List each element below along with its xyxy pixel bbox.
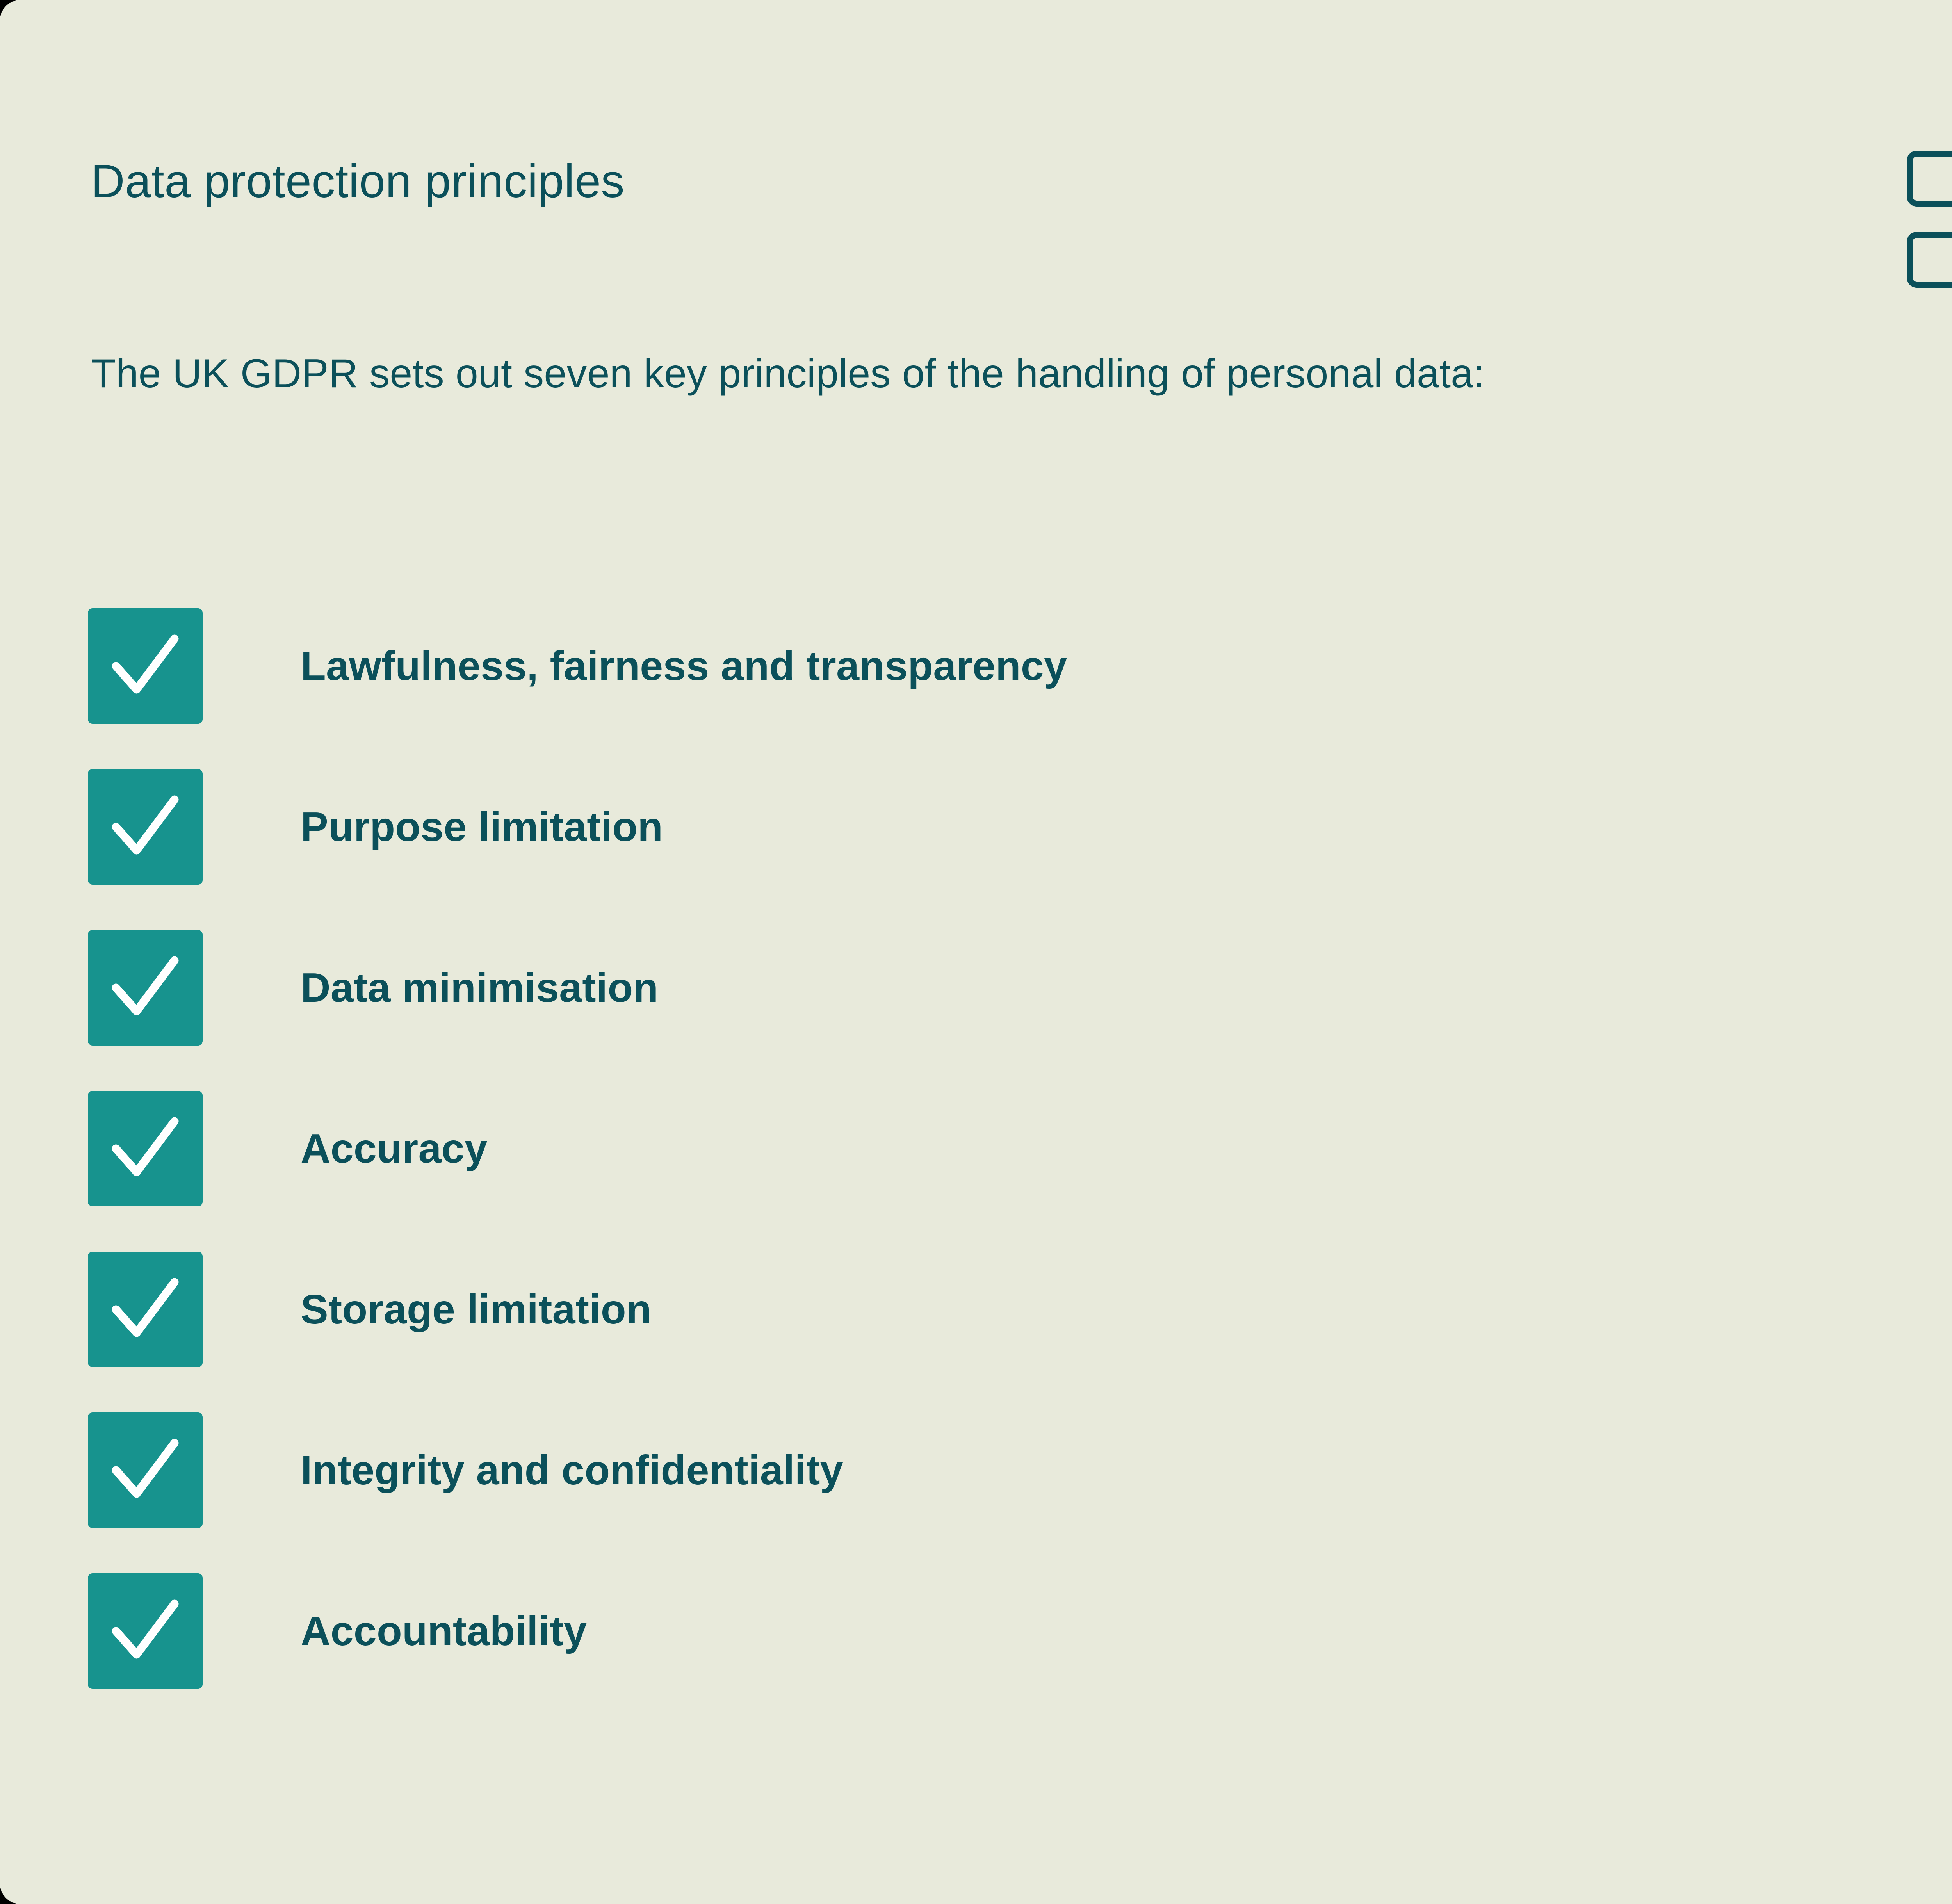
checklist-item[interactable]: Purpose limitation	[0, 769, 1952, 885]
checkbox-checked[interactable]	[88, 1252, 203, 1367]
checklist-item[interactable]: Integrity and confidentiality	[0, 1412, 1952, 1528]
checklist-item[interactable]: Storage limitation	[0, 1252, 1952, 1367]
checklist-item[interactable]: Lawfulness, fairness and transparency	[0, 608, 1952, 724]
check-icon	[88, 1573, 203, 1689]
checklist-item[interactable]: Accountability	[0, 1573, 1952, 1689]
check-icon	[88, 769, 203, 885]
check-icon	[88, 1091, 203, 1206]
grid-square-bottom-left	[1907, 232, 1952, 288]
grid-four-squares-icon	[1907, 151, 1952, 268]
checklist-item[interactable]: Data minimisation	[0, 930, 1952, 1046]
page-title: Data protection principles	[91, 158, 625, 205]
checkbox-checked[interactable]	[88, 608, 203, 724]
data-protection-principles-card: Data protection principles The UK GDPR s…	[0, 0, 1952, 1904]
checkbox-checked[interactable]	[88, 1412, 203, 1528]
checklist-item-label: Accuracy	[301, 1091, 488, 1206]
checklist-item-label: Lawfulness, fairness and transparency	[301, 608, 1067, 724]
checkbox-checked[interactable]	[88, 1091, 203, 1206]
checkbox-checked[interactable]	[88, 930, 203, 1046]
checklist-item-label: Storage limitation	[301, 1252, 652, 1367]
principles-checklist: Lawfulness, fairness and transparencyPur…	[0, 608, 1952, 1734]
checklist-item-label: Purpose limitation	[301, 769, 663, 885]
checkbox-checked[interactable]	[88, 769, 203, 885]
check-icon	[88, 1412, 203, 1528]
grid-square-top-left	[1907, 151, 1952, 207]
checklist-item-label: Accountability	[301, 1573, 587, 1689]
checklist-item-label: Data minimisation	[301, 930, 658, 1046]
intro-paragraph: The UK GDPR sets out seven key principle…	[91, 347, 1770, 401]
check-icon	[88, 608, 203, 724]
checklist-item-label: Integrity and confidentiality	[301, 1412, 843, 1528]
checkbox-checked[interactable]	[88, 1573, 203, 1689]
check-icon	[88, 930, 203, 1046]
checklist-item[interactable]: Accuracy	[0, 1091, 1952, 1206]
card-header: Data protection principles	[0, 0, 1952, 297]
check-icon	[88, 1252, 203, 1367]
